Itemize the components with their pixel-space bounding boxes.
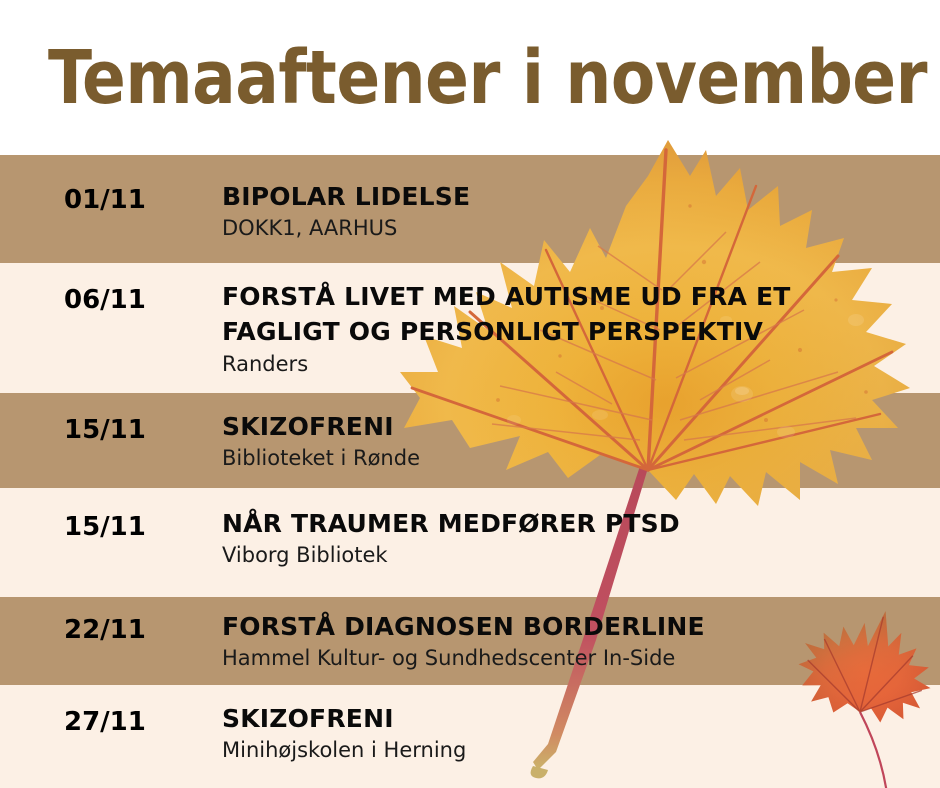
event-title-line1: NÅR TRAUMER MEDFØRER PTSD	[222, 509, 930, 540]
event-venue: Minihøjskolen i Herning	[222, 737, 930, 764]
event-date: 06/11	[64, 285, 146, 315]
event-date: 27/11	[64, 707, 146, 737]
event-date: 15/11	[64, 512, 146, 542]
event-venue: DOKK1, AARHUS	[222, 215, 930, 242]
event-venue: Viborg Bibliotek	[222, 542, 930, 569]
schedule-row-5[interactable]: 22/11 FORSTÅ DIAGNOSEN BORDERLINE Hammel…	[0, 597, 940, 685]
poster-canvas: Temaaftener i november 01/11 BIPOLAR LID…	[0, 0, 940, 788]
event-title-line1: BIPOLAR LIDELSE	[222, 182, 930, 213]
event-venue: Hammel Kultur- og Sundhedscenter In-Side	[222, 645, 930, 672]
event-text-block: SKIZOFRENI Biblioteket i Rønde	[222, 412, 930, 472]
event-title-line1: SKIZOFRENI	[222, 412, 930, 443]
event-venue: Biblioteket i Rønde	[222, 445, 930, 472]
event-title-line1: FORSTÅ DIAGNOSEN BORDERLINE	[222, 612, 930, 643]
schedule-row-3[interactable]: 15/11 SKIZOFRENI Biblioteket i Rønde	[0, 393, 940, 488]
schedule-row-4[interactable]: 15/11 NÅR TRAUMER MEDFØRER PTSD Viborg B…	[0, 488, 940, 597]
event-text-block: SKIZOFRENI Minihøjskolen i Herning	[222, 704, 930, 764]
event-text-block: FORSTÅ DIAGNOSEN BORDERLINE Hammel Kultu…	[222, 612, 930, 672]
event-title-line2: FAGLIGT OG PERSONLIGT PERSPEKTIV	[222, 317, 930, 348]
schedule-row-2[interactable]: 06/11 FORSTÅ LIVET MED AUTISME UD FRA ET…	[0, 263, 940, 393]
event-text-block: FORSTÅ LIVET MED AUTISME UD FRA ET FAGLI…	[222, 282, 930, 378]
event-text-block: BIPOLAR LIDELSE DOKK1, AARHUS	[222, 182, 930, 242]
schedule-row-1[interactable]: 01/11 BIPOLAR LIDELSE DOKK1, AARHUS	[0, 155, 940, 263]
schedule-list: 01/11 BIPOLAR LIDELSE DOKK1, AARHUS 06/1…	[0, 0, 940, 788]
event-title-line1: SKIZOFRENI	[222, 704, 930, 735]
schedule-row-6[interactable]: 27/11 SKIZOFRENI Minihøjskolen i Herning	[0, 685, 940, 788]
event-date: 22/11	[64, 615, 146, 645]
event-text-block: NÅR TRAUMER MEDFØRER PTSD Viborg Bibliot…	[222, 509, 930, 569]
event-date: 15/11	[64, 415, 146, 445]
event-title-line1: FORSTÅ LIVET MED AUTISME UD FRA ET	[222, 282, 930, 313]
event-venue: Randers	[222, 351, 930, 378]
event-date: 01/11	[64, 185, 146, 215]
